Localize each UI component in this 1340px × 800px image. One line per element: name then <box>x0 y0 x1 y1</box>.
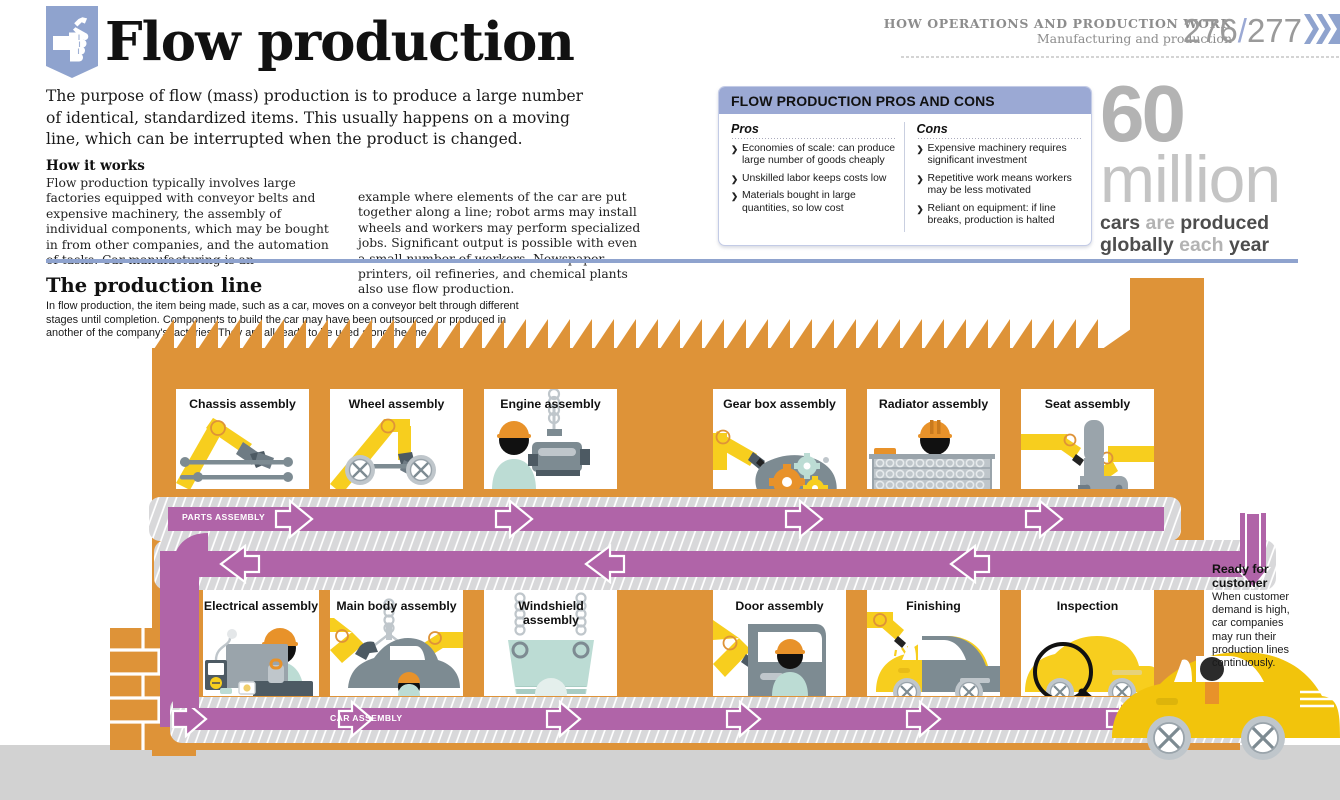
station-label-engine-assembly: Engine assembly <box>484 397 617 411</box>
statistic-unit: million <box>1100 148 1340 210</box>
list-item: Materials bought in large quantities, so… <box>731 190 896 215</box>
how-it-works-heading: How it works <box>46 158 646 174</box>
list-item: Reliant on equipment: if line breaks, pr… <box>917 203 1082 228</box>
ready-for-customer-heading: Ready forcustomer <box>1212 562 1304 590</box>
belt-label-parts-assembly: PARTS ASSEMBLY <box>182 512 265 522</box>
list-item: Unskilled labor keeps costs low <box>731 173 896 185</box>
header-dotted-rule <box>900 56 1340 58</box>
hand-wrench-icon <box>46 6 98 78</box>
station-label-gear-box-assembly: Gear box assembly <box>713 397 846 411</box>
station-label-seat-assembly: Seat assembly <box>1021 397 1154 411</box>
pros-column: Pros Economies of scale: can produce lar… <box>731 122 896 232</box>
station-label-windshield-assembly: Windshield assembly <box>501 599 601 627</box>
intro-paragraph: The purpose of flow (mass) production is… <box>46 86 586 151</box>
page-number-separator: / <box>1238 12 1247 49</box>
pros-and-cons-box: FLOW PRODUCTION PROS AND CONS Pros Econo… <box>718 86 1092 246</box>
page-number-right: 277 <box>1247 12 1302 49</box>
station-label-wheel-assembly: Wheel assembly <box>330 397 463 411</box>
statistic-caption: cars are produced globally each year <box>1100 212 1340 256</box>
page-number-left: 276 <box>1183 12 1238 49</box>
belt-label-car-assembly: CAR ASSEMBLY <box>330 713 402 723</box>
pros-heading: Pros <box>731 122 896 136</box>
ready-for-customer-text: When customer demand is high, car compan… <box>1212 591 1304 670</box>
statistic-caption-1a: cars <box>1100 212 1146 234</box>
pros-cons-title: FLOW PRODUCTION PROS AND CONS <box>731 93 995 109</box>
statistic-caption-2a: globally <box>1100 234 1179 256</box>
double-chevron-right-icon <box>1304 14 1340 49</box>
running-head: HOW OPERATIONS AND PRODUCTION WORK Manuf… <box>884 16 1232 46</box>
pros-cons-title-bar: FLOW PRODUCTION PROS AND CONS <box>719 87 1091 114</box>
statistic-caption-1c: produced <box>1180 212 1269 234</box>
statistic-caption-2c: year <box>1229 234 1269 256</box>
ready-heading-line2: customer <box>1212 576 1267 590</box>
statistic-caption-1b: are <box>1146 212 1181 234</box>
running-head-line2: Manufacturing and production <box>884 31 1232 46</box>
pros-list: Economies of scale: can produce large nu… <box>731 143 896 215</box>
station-label-electrical-assembly: Electrical assembly <box>203 599 319 613</box>
statistic-callout: 60 million cars are produced globally ea… <box>1100 80 1340 256</box>
station-label-radiator-assembly: Radiator assembly <box>867 397 1000 411</box>
section-divider <box>46 259 1298 263</box>
station-label-door-assembly: Door assembly <box>713 599 846 613</box>
production-line-diagram: Chassis assembly Wheel assembly Engine a… <box>0 268 1340 800</box>
statistic-number: 60 <box>1100 80 1340 148</box>
station-label-main-body-assembly: Main body assembly <box>330 599 463 613</box>
pros-divider <box>731 138 896 139</box>
list-item: Economies of scale: can produce large nu… <box>731 143 896 168</box>
conveyor-parts-assembly <box>149 497 1181 541</box>
ready-for-customer-callout: Ready forcustomer When customer demand i… <box>1212 562 1304 670</box>
page-numbers: 276/277 <box>1183 12 1302 50</box>
list-item: Repetitive work means workers may be les… <box>917 173 1082 198</box>
station-label-chassis-assembly: Chassis assembly <box>176 397 309 411</box>
cons-list: Expensive machinery requires significant… <box>917 143 1082 227</box>
infographic-page: Flow production The purpose of flow (mas… <box>0 0 1340 800</box>
list-item: Expensive machinery requires significant… <box>917 143 1082 168</box>
cons-divider <box>917 138 1082 139</box>
statistic-caption-2b: each <box>1179 234 1229 256</box>
cons-heading: Cons <box>917 122 1082 136</box>
running-head-line1: HOW OPERATIONS AND PRODUCTION WORK <box>884 16 1232 31</box>
station-label-finishing: Finishing <box>867 599 1000 613</box>
ready-heading-line1: Ready for <box>1212 562 1269 576</box>
cons-column: Cons Expensive machinery requires signif… <box>904 122 1082 232</box>
station-label-inspection: Inspection <box>1021 599 1154 613</box>
page-title: Flow production <box>105 14 574 70</box>
